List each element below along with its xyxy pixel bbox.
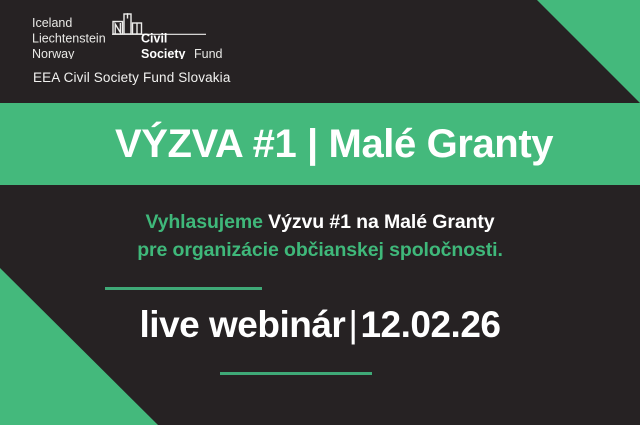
logo-country-liechtenstein: Liechtenstein: [32, 32, 106, 46]
event-date: 12.02.26: [360, 304, 500, 345]
subtitle-block: Vyhlasujeme Výzvu #1 na Malé Granty pre …: [0, 208, 640, 265]
logo-svg: Iceland Liechtenstein Norway Civil Socie…: [32, 11, 332, 59]
eea-civil-society-fund-logo: Iceland Liechtenstein Norway Civil Socie…: [32, 11, 332, 59]
divider-rule-bottom: [220, 372, 372, 375]
promo-banner: Iceland Liechtenstein Norway Civil Socie…: [0, 0, 640, 425]
subtitle-line1-green: Vyhlasujeme: [145, 211, 268, 233]
logo-country-iceland: Iceland: [32, 16, 72, 30]
subtitle-line2: pre organizácie občianskej spoločnosti.: [0, 236, 640, 264]
campaign-title: VÝZVA #1 | Malé Granty: [115, 124, 553, 164]
logo-fund-society: Society: [141, 47, 186, 59]
subtitle-line1-white: Výzvu #1 na Malé Granty: [268, 211, 494, 233]
title-band: VÝZVA #1 | Malé Granty: [0, 103, 640, 185]
event-separator: |: [345, 304, 360, 345]
bottom-left-green-triangle: [0, 268, 158, 425]
programme-title: EEA Civil Society Fund Slovakia: [33, 70, 231, 85]
event-label: live webinár: [140, 304, 346, 345]
divider-rule-top: [105, 287, 262, 290]
logo-country-norway: Norway: [32, 47, 75, 59]
building-icon: [113, 13, 142, 34]
logo-fund-fund: Fund: [194, 47, 223, 59]
event-line: live webinár|12.02.26: [0, 305, 640, 346]
top-right-green-triangle: [537, 0, 640, 103]
logo-fund-civil: Civil: [141, 32, 167, 46]
